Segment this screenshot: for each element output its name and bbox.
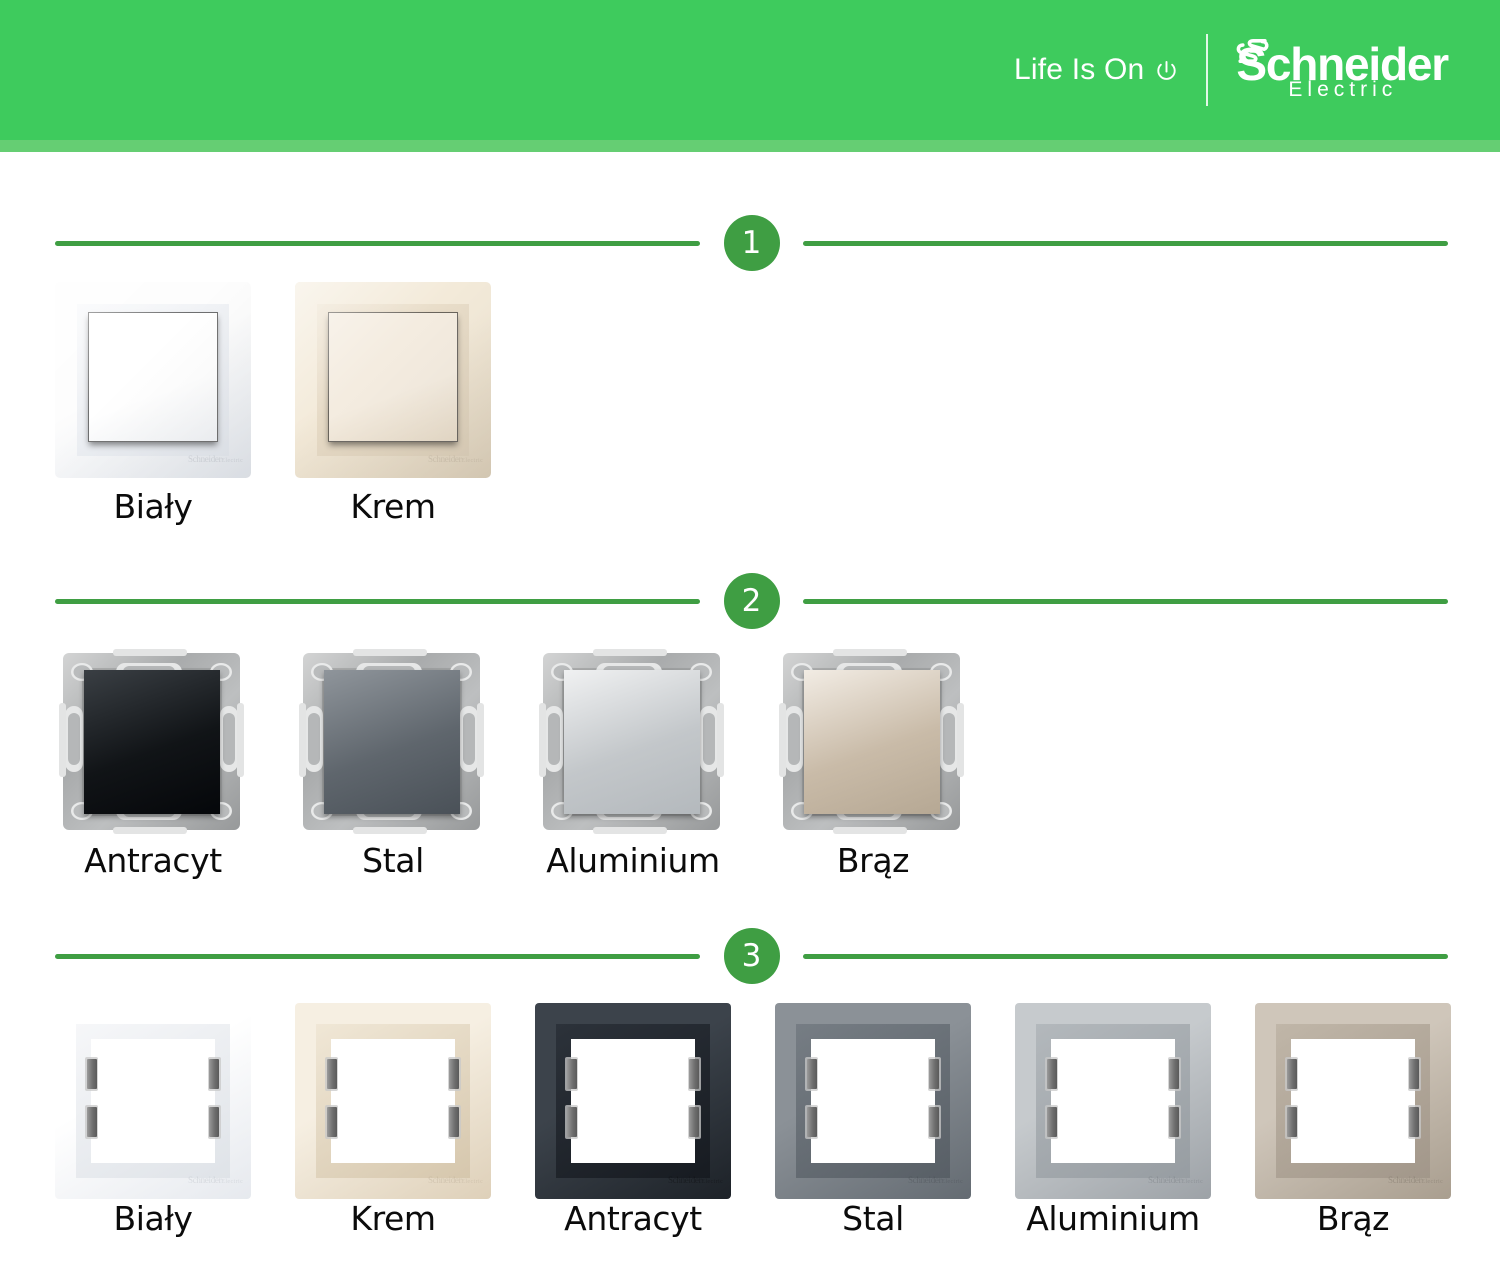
divider-rule-left: [55, 599, 700, 604]
frame-clip: [929, 1107, 939, 1137]
switch-rocker[interactable]: [328, 312, 458, 442]
section-divider-2: 2: [55, 573, 1448, 629]
electric-wordmark: Electric: [1288, 79, 1397, 100]
life-is-on-tagline: Life Is On: [1014, 53, 1206, 87]
section-badge-2: 2: [724, 573, 780, 629]
watermark-line-2: Electric: [1181, 1179, 1203, 1185]
product-label-frame-aluminium: Aluminium: [1015, 1199, 1211, 1238]
frame-clip: [327, 1059, 337, 1089]
watermark-line-2: Electric: [701, 1179, 723, 1185]
frame-aperture: [811, 1039, 935, 1163]
product-row-mechanisms: [55, 645, 1448, 845]
frame-aperture: [331, 1039, 455, 1163]
switch-rocker[interactable]: [88, 312, 218, 442]
watermark-line-1: Schneider: [908, 1175, 941, 1185]
power-icon: [1153, 59, 1180, 86]
product-cell-frame-krem[interactable]: SchneiderElectric: [295, 1003, 491, 1199]
switch-frame[interactable]: SchneiderElectric: [55, 282, 251, 478]
header-accent-strip: [0, 140, 1500, 152]
product-cell-frame-stal[interactable]: SchneiderElectric: [775, 1003, 971, 1199]
product-label-mechanism-antracyt: Antracyt: [55, 841, 251, 880]
schneider-watermark: SchneiderElectric: [1388, 1170, 1440, 1190]
frame-clip: [1169, 1107, 1179, 1137]
frame-clip: [209, 1107, 219, 1137]
frame-aperture: [91, 1039, 215, 1163]
schneider-watermark: SchneiderElectric: [668, 1170, 720, 1190]
product-cell-frame-biały[interactable]: SchneiderElectric: [55, 1003, 251, 1199]
cover-frame[interactable]: SchneiderElectric: [1015, 1003, 1211, 1199]
frame-clip: [87, 1107, 97, 1137]
frame-aperture: [571, 1039, 695, 1163]
section-divider-3: 3: [55, 928, 1448, 984]
product-label-frame-krem: Krem: [295, 1199, 491, 1238]
product-cell-mechanism-brąz[interactable]: [775, 645, 971, 838]
product-label-frame-biały: Biały: [55, 1199, 251, 1238]
product-row-frames: SchneiderElectricSchneiderElectricSchnei…: [55, 1003, 1448, 1203]
product-label-mechanism-aluminium: Aluminium: [535, 841, 731, 880]
frame-clip: [567, 1059, 577, 1089]
frame-clip: [1169, 1059, 1179, 1089]
label-row-mechanisms: AntracytStalAluminiumBrąz: [55, 841, 1448, 885]
product-cell-complete-switch-biały[interactable]: SchneiderElectric: [55, 282, 251, 478]
frame-clip: [929, 1059, 939, 1089]
product-cell-frame-brąz[interactable]: SchneiderElectric: [1255, 1003, 1451, 1199]
frame-clip: [689, 1107, 699, 1137]
schneider-watermark: SchneiderElectric: [188, 449, 240, 469]
watermark-line-1: Schneider: [1148, 1175, 1181, 1185]
schneider-watermark: SchneiderElectric: [908, 1170, 960, 1190]
watermark-line-1: Schneider: [428, 1175, 461, 1185]
watermark-line-1: Schneider: [668, 1175, 701, 1185]
watermark-line-2: Electric: [941, 1179, 963, 1185]
mechanism-rocker[interactable]: [84, 670, 220, 814]
section-divider-1: 1: [55, 215, 1448, 271]
mechanism-rocker[interactable]: [324, 670, 460, 814]
brand-bar: Life Is On Schneider: [1014, 0, 1448, 140]
frame-clip: [327, 1107, 337, 1137]
frame-clip: [1287, 1059, 1297, 1089]
product-cell-frame-antracyt[interactable]: SchneiderElectric: [535, 1003, 731, 1199]
watermark-line-2: Electric: [221, 458, 243, 464]
product-label-frame-brąz: Brąz: [1255, 1199, 1451, 1238]
switch-mechanism[interactable]: [535, 645, 728, 838]
life-is-on-text: Life Is On: [1014, 53, 1144, 87]
cover-frame[interactable]: SchneiderElectric: [1255, 1003, 1451, 1199]
frame-clip: [449, 1107, 459, 1137]
product-label-mechanism-brąz: Brąz: [775, 841, 971, 880]
divider-rule-left: [55, 241, 700, 246]
frame-clip: [209, 1059, 219, 1089]
divider-rule-right: [803, 241, 1448, 246]
mechanism-rocker[interactable]: [564, 670, 700, 814]
product-cell-mechanism-aluminium[interactable]: [535, 645, 731, 838]
cover-frame[interactable]: SchneiderElectric: [295, 1003, 491, 1199]
frame-clip: [1409, 1107, 1419, 1137]
watermark-line-1: Schneider: [428, 454, 461, 464]
divider-rule-left: [55, 954, 700, 959]
product-color-chart-page: Life Is On Schneider: [0, 0, 1500, 1270]
section-badge-1: 1: [724, 215, 780, 271]
watermark-line-2: Electric: [221, 1179, 243, 1185]
watermark-line-2: Electric: [1421, 1179, 1443, 1185]
cover-frame[interactable]: SchneiderElectric: [535, 1003, 731, 1199]
product-row-complete-switches: SchneiderElectricSchneiderElectric: [55, 282, 1448, 482]
frame-clip: [87, 1059, 97, 1089]
schneider-watermark: SchneiderElectric: [188, 1170, 240, 1190]
divider-rule-right: [803, 599, 1448, 604]
frame-aperture: [1291, 1039, 1415, 1163]
schneider-se-mark-icon: [1236, 38, 1270, 64]
frame-clip: [567, 1107, 577, 1137]
frame-clip: [1047, 1107, 1057, 1137]
watermark-line-2: Electric: [461, 1179, 483, 1185]
schneider-watermark: SchneiderElectric: [1148, 1170, 1200, 1190]
product-label-complete-switch-biały: Biały: [55, 487, 251, 526]
product-cell-mechanism-antracyt[interactable]: [55, 645, 251, 838]
label-row-frames: BiałyKremAntracytStalAluminiumBrąz: [55, 1199, 1448, 1243]
frame-clip: [1409, 1059, 1419, 1089]
product-label-mechanism-stal: Stal: [295, 841, 491, 880]
cover-frame[interactable]: SchneiderElectric: [775, 1003, 971, 1199]
frame-clip: [1287, 1107, 1297, 1137]
product-label-frame-stal: Stal: [775, 1199, 971, 1238]
frame-clip: [807, 1059, 817, 1089]
switch-mechanism[interactable]: [295, 645, 488, 838]
switch-mechanism[interactable]: [775, 645, 968, 838]
frame-clip: [449, 1059, 459, 1089]
product-cell-mechanism-stal[interactable]: [295, 645, 491, 838]
frame-clip: [1047, 1059, 1057, 1089]
label-row-complete-switches: BiałyKrem: [55, 487, 1448, 531]
section-badge-3: 3: [724, 928, 780, 984]
product-cell-complete-switch-krem[interactable]: SchneiderElectric: [295, 282, 491, 478]
switch-frame[interactable]: SchneiderElectric: [295, 282, 491, 478]
divider-rule-right: [803, 954, 1448, 959]
schneider-electric-logo: Schneider Electric: [1208, 41, 1448, 100]
cover-frame[interactable]: SchneiderElectric: [55, 1003, 251, 1199]
watermark-line-1: Schneider: [188, 454, 221, 464]
brand-header: Life Is On Schneider: [0, 0, 1500, 140]
mechanism-rocker[interactable]: [804, 670, 940, 814]
schneider-watermark: SchneiderElectric: [428, 449, 480, 469]
frame-clip: [689, 1059, 699, 1089]
product-label-complete-switch-krem: Krem: [295, 487, 491, 526]
product-cell-frame-aluminium[interactable]: SchneiderElectric: [1015, 1003, 1211, 1199]
watermark-line-1: Schneider: [188, 1175, 221, 1185]
watermark-line-1: Schneider: [1388, 1175, 1421, 1185]
switch-mechanism[interactable]: [55, 645, 248, 838]
frame-aperture: [1051, 1039, 1175, 1163]
watermark-line-2: Electric: [461, 458, 483, 464]
product-label-frame-antracyt: Antracyt: [535, 1199, 731, 1238]
schneider-watermark: SchneiderElectric: [428, 1170, 480, 1190]
frame-clip: [807, 1107, 817, 1137]
